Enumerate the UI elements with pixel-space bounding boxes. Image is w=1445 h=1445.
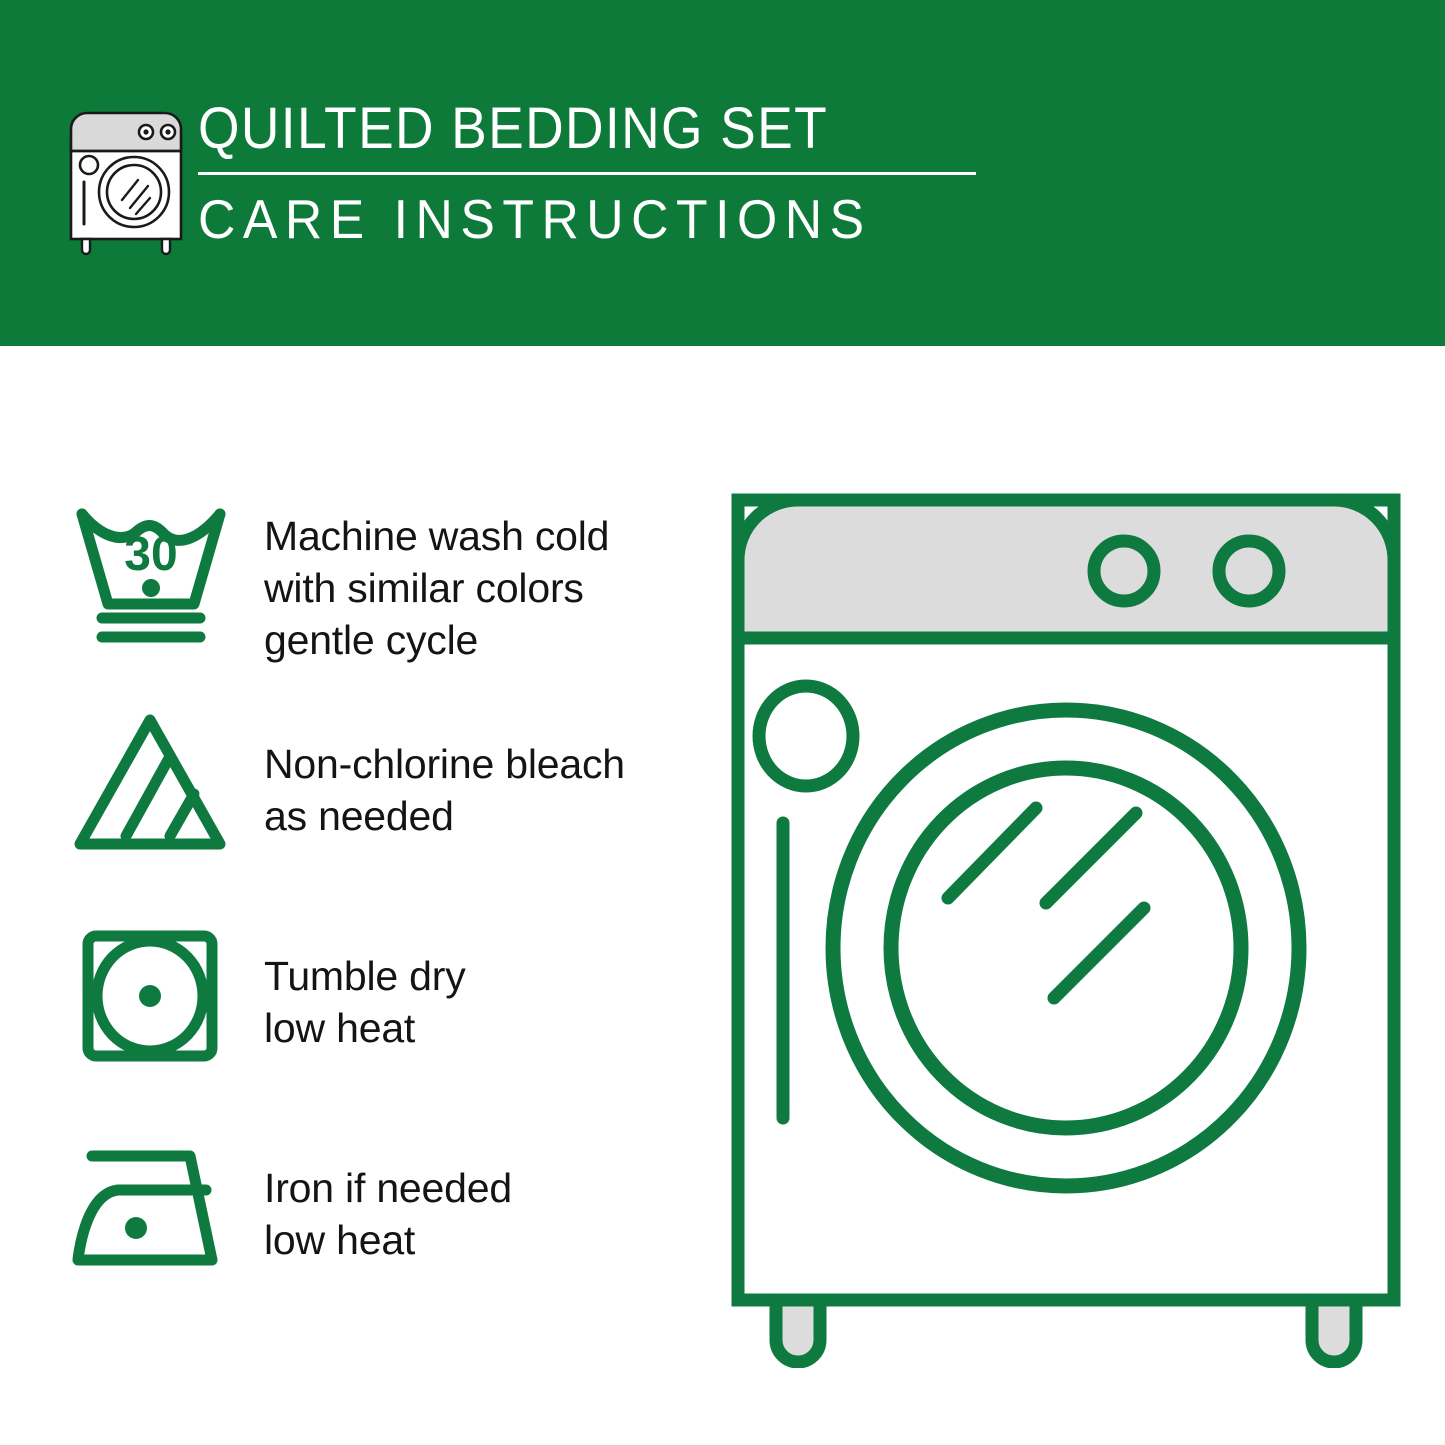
title-divider xyxy=(198,172,976,175)
care-instruction-list: 30 Machine wash cold with similar colors… xyxy=(70,492,690,1340)
knob-right xyxy=(1219,541,1279,601)
care-instructions-infographic: QUILTED BEDDING SET CARE INSTRUCTIONS xyxy=(0,0,1445,1445)
care-text-bleach: Non-chlorine bleach as needed xyxy=(240,704,690,842)
care-text-line: with similar colors xyxy=(264,562,690,614)
care-text-line: gentle cycle xyxy=(264,614,690,666)
care-row-tumble-dry: Tumble dry low heat xyxy=(70,916,690,1128)
page-subtitle: CARE INSTRUCTIONS xyxy=(198,189,950,249)
header-band: QUILTED BEDDING SET CARE INSTRUCTIONS xyxy=(0,0,1445,346)
washing-machine-icon xyxy=(62,104,190,256)
care-row-machine-wash: 30 Machine wash cold with similar colors… xyxy=(70,492,690,704)
door-inner-ring xyxy=(891,768,1241,1128)
care-row-bleach: Non-chlorine bleach as needed xyxy=(70,704,690,916)
care-text-line: Non-chlorine bleach xyxy=(264,738,690,790)
tumble-dry-low-heat-icon xyxy=(70,916,240,1076)
control-panel xyxy=(738,500,1394,638)
care-text-line: low heat xyxy=(264,1002,690,1054)
care-text-tumble-dry: Tumble dry low heat xyxy=(240,916,690,1054)
care-text-line: Machine wash cold xyxy=(264,510,690,562)
leg-right xyxy=(1312,1300,1356,1362)
header-text-block: QUILTED BEDDING SET CARE INSTRUCTIONS xyxy=(198,98,998,249)
wash-temperature-label: 30 xyxy=(124,528,177,581)
care-text-iron: Iron if needed low heat xyxy=(240,1128,690,1266)
care-text-line: low heat xyxy=(264,1214,690,1266)
care-row-iron: Iron if needed low heat xyxy=(70,1128,690,1340)
leg-left xyxy=(776,1300,820,1362)
page-title: QUILTED BEDDING SET xyxy=(198,98,934,160)
small-dial xyxy=(759,686,853,786)
care-text-line: Iron if needed xyxy=(264,1162,690,1214)
wash-tub-30-gentle-icon: 30 xyxy=(70,492,240,652)
care-text-line: as needed xyxy=(264,790,690,842)
care-text-machine-wash: Machine wash cold with similar colors ge… xyxy=(240,492,690,666)
front-load-washing-machine-illustration xyxy=(716,478,1416,1368)
knob-left xyxy=(1094,541,1154,601)
iron-low-heat-icon xyxy=(70,1128,240,1288)
non-chlorine-bleach-triangle-icon xyxy=(70,704,240,864)
care-text-line: Tumble dry xyxy=(264,950,690,1002)
